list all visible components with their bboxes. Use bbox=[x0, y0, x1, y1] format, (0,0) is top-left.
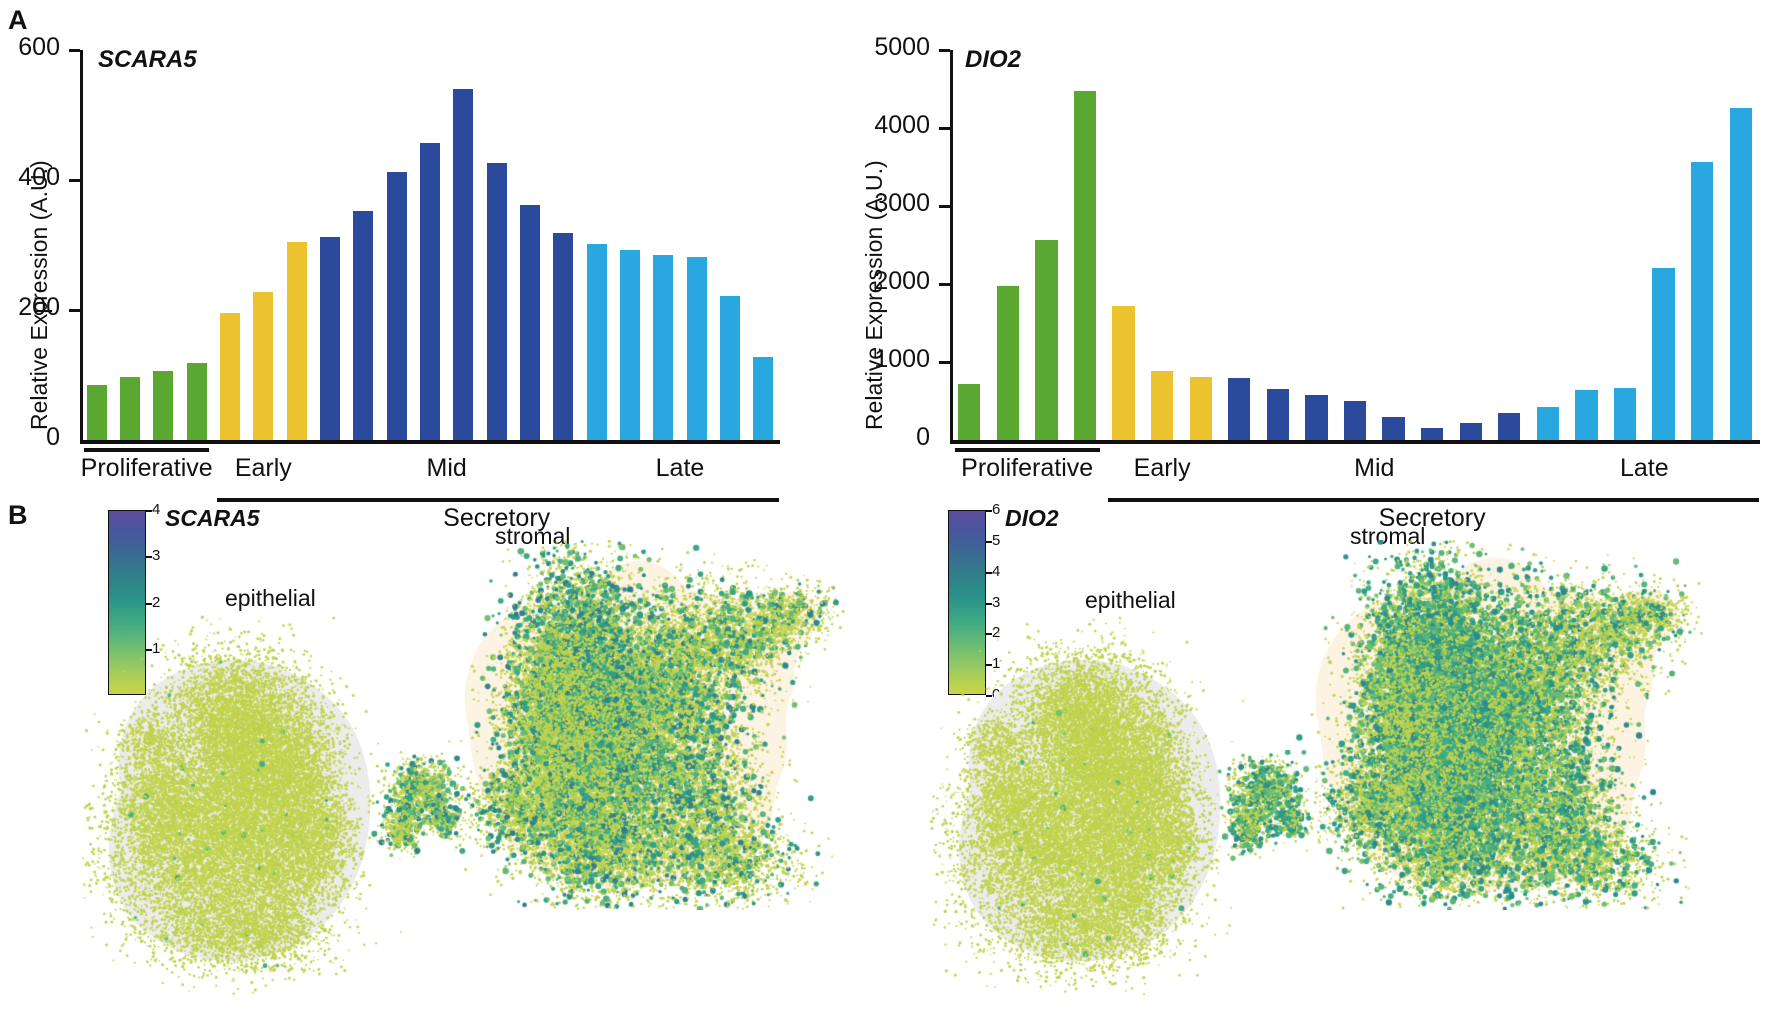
bar bbox=[653, 255, 673, 440]
bar bbox=[1228, 378, 1250, 440]
stromal-scatter-points bbox=[425, 540, 845, 910]
bar bbox=[958, 384, 980, 440]
bar-chart-dio2: Relative Expression (A.U.) DIO2 01000200… bbox=[855, 40, 1770, 480]
bar bbox=[1382, 417, 1404, 440]
bar-chart-scara5: Relative Expression (A.U.) SCARA5 020040… bbox=[20, 40, 780, 480]
bar bbox=[1614, 388, 1636, 440]
bar bbox=[1537, 407, 1559, 440]
group-label-late: Late bbox=[540, 454, 820, 483]
panel-letter-a: A bbox=[8, 5, 28, 36]
y-axis-line bbox=[950, 50, 953, 440]
y-tick-label: 200 bbox=[0, 293, 60, 322]
bar bbox=[1305, 395, 1327, 440]
bar bbox=[1691, 162, 1713, 440]
bar bbox=[1074, 91, 1096, 440]
bar bbox=[220, 313, 240, 440]
bar bbox=[753, 357, 773, 440]
y-tick-label: 3000 bbox=[820, 189, 930, 218]
plot-area-scara5: 0200400600ProliferativeEarlyMidLateSecre… bbox=[80, 50, 780, 440]
umap-panel-dio2: 0123456 DIO2 epithelial stromal bbox=[900, 495, 1720, 1015]
bar bbox=[1112, 306, 1134, 440]
panel-letter-b: B bbox=[8, 500, 28, 531]
bar bbox=[453, 89, 473, 440]
y-tick-mark bbox=[69, 309, 80, 312]
y-tick-label: 1000 bbox=[820, 345, 930, 374]
bar bbox=[1652, 268, 1674, 440]
umap-scatter-scara5 bbox=[60, 495, 860, 1015]
y-axis-line bbox=[80, 50, 83, 440]
bar bbox=[187, 363, 207, 440]
y-tick-label: 0 bbox=[0, 423, 60, 452]
bar bbox=[1267, 389, 1289, 440]
umap-scatter-dio2 bbox=[900, 495, 1720, 1015]
y-tick-label: 0 bbox=[820, 423, 930, 452]
bar bbox=[687, 257, 707, 440]
bar bbox=[253, 292, 273, 440]
y-tick-label: 600 bbox=[0, 33, 60, 62]
bar bbox=[720, 296, 740, 440]
bar bbox=[420, 143, 440, 440]
bar bbox=[1035, 240, 1057, 440]
bar bbox=[1498, 413, 1520, 440]
bar bbox=[1344, 401, 1366, 440]
group-rule-proliferative bbox=[955, 448, 1100, 452]
group-label-late: Late bbox=[1504, 454, 1772, 483]
y-tick-mark bbox=[939, 361, 950, 364]
bar bbox=[1730, 108, 1752, 440]
bar bbox=[1575, 390, 1597, 440]
bar bbox=[353, 211, 373, 440]
y-tick-label: 400 bbox=[0, 163, 60, 192]
bar bbox=[320, 237, 340, 440]
bar bbox=[153, 371, 173, 440]
bar bbox=[1421, 428, 1443, 440]
x-axis-line bbox=[950, 440, 1760, 444]
bar bbox=[287, 242, 307, 440]
bar bbox=[1151, 371, 1173, 440]
x-axis-line bbox=[80, 440, 780, 444]
figure-root: A Relative Expression (A.U.) SCARA5 0200… bbox=[0, 0, 1772, 1018]
bar bbox=[487, 163, 507, 440]
bar bbox=[87, 385, 107, 440]
y-tick-mark bbox=[69, 49, 80, 52]
y-tick-mark bbox=[939, 205, 950, 208]
y-tick-label: 2000 bbox=[820, 267, 930, 296]
group-label-mid: Mid bbox=[1234, 454, 1514, 483]
satellite-scatter-points bbox=[1205, 750, 1325, 870]
bar bbox=[587, 244, 607, 440]
bar bbox=[1190, 377, 1212, 440]
y-tick-mark bbox=[939, 49, 950, 52]
plot-area-dio2: 010002000300040005000ProliferativeEarlyM… bbox=[950, 50, 1760, 440]
y-tick-label: 5000 bbox=[820, 33, 930, 62]
bar bbox=[387, 172, 407, 440]
y-tick-mark bbox=[939, 283, 950, 286]
bar bbox=[120, 377, 140, 440]
satellite-scatter-points bbox=[360, 750, 480, 870]
bar bbox=[1460, 423, 1482, 440]
umap-panel-scara5: 01234 SCARA5 epithelial stromal bbox=[60, 495, 860, 1015]
y-tick-label: 4000 bbox=[820, 111, 930, 140]
bar bbox=[520, 205, 540, 440]
bar bbox=[997, 286, 1019, 440]
y-tick-mark bbox=[69, 179, 80, 182]
bar bbox=[553, 233, 573, 440]
y-tick-mark bbox=[939, 127, 950, 130]
bar bbox=[620, 250, 640, 440]
stromal-scatter-points bbox=[1275, 540, 1705, 910]
group-rule-proliferative bbox=[84, 448, 209, 452]
